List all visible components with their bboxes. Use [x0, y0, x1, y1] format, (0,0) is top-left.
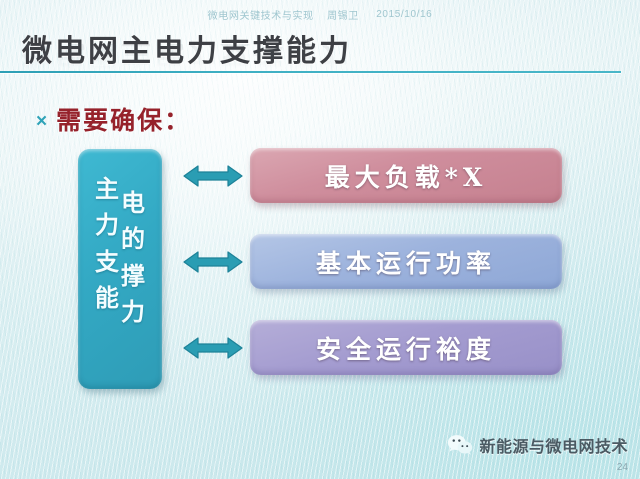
bullet-label: 需要确保：	[56, 101, 191, 137]
vertical-column-right: 电 的 撑 力	[121, 185, 145, 331]
slide-header: 微电网关键技术与实现 周锡卫 2015/10/16	[0, 7, 640, 22]
vertical-char: 主	[95, 171, 119, 207]
header-date: 2015/10/16	[376, 9, 432, 20]
requirement-box-safety-margin: 安全运行裕度	[250, 320, 562, 375]
double-arrow-icon-3	[182, 335, 244, 361]
double-arrow-icon-1	[182, 163, 244, 189]
vertical-char: 力	[95, 207, 119, 243]
header-course-title: 微电网关键技术与实现	[208, 7, 314, 22]
main-power-support-box: 电 的 撑 力 主 力 支 能	[78, 149, 162, 389]
page-number: 24	[617, 462, 628, 473]
vertical-text-group: 电 的 撑 力 主 力 支 能	[78, 171, 162, 367]
vertical-char: 撑	[121, 258, 145, 294]
requirement-box-max-load: 最大负载*X	[250, 148, 562, 203]
requirement-box-base-power: 基本运行功率	[250, 234, 562, 289]
vertical-char: 电	[121, 185, 145, 221]
vertical-char: 支	[95, 244, 119, 280]
vertical-char: 能	[95, 280, 119, 316]
title-underline	[0, 71, 621, 73]
slide-canvas: 微电网关键技术与实现 周锡卫 2015/10/16 微电网主电力支撑能力 微电网…	[0, 0, 640, 479]
bullet-x-icon: ×	[36, 112, 47, 131]
header-author: 周锡卫	[327, 7, 359, 22]
bullet-line: × 需要确保：	[36, 101, 191, 137]
page-title-block: 微电网主电力支撑能力 微电网主电力支撑能力	[22, 36, 622, 96]
footer-brand-text: 新能源与微电网技术	[479, 433, 628, 457]
wechat-icon	[447, 433, 473, 457]
double-arrow-icon-2	[182, 249, 244, 275]
page-title-reflection: 微电网主电力支撑能力	[22, 44, 622, 70]
vertical-char: 力	[121, 294, 145, 330]
vertical-column-left: 主 力 支 能	[95, 171, 119, 317]
vertical-char: 的	[121, 221, 145, 257]
footer-brand: 新能源与微电网技术	[447, 433, 628, 457]
